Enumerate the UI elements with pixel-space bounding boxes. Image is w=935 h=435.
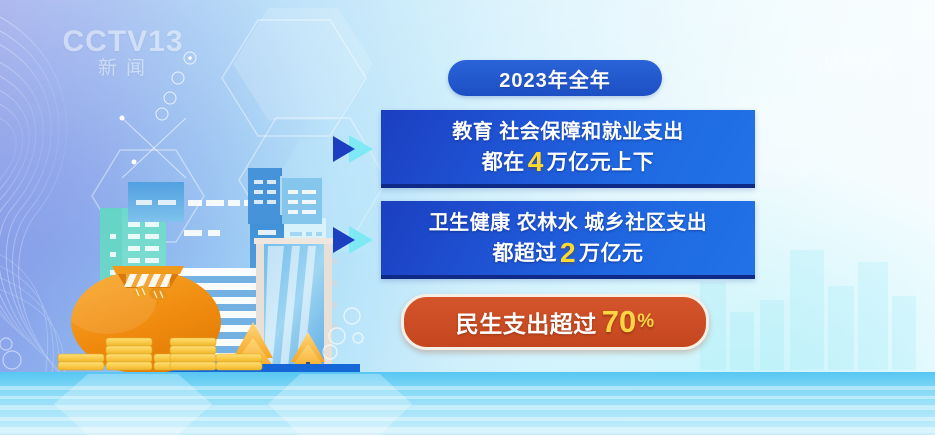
wave-lines: [0, 12, 82, 396]
stat-line-1: 教育 社会保障和就业支出: [452, 117, 684, 147]
stat-suffix: 万亿元上下: [547, 151, 655, 174]
triangle-right-icon: [333, 132, 375, 166]
stat-row: 卫生健康 农林水 城乡社区支出 都超过2万亿元: [355, 201, 755, 279]
stat-row: 教育 社会保障和就业支出 都在4万亿元上下: [355, 110, 755, 188]
stat-line-2: 都超过2万亿元: [492, 238, 643, 269]
stat-prefix: 都在: [482, 151, 525, 174]
circle-dots-decor: [156, 52, 196, 120]
summary-unit: %: [636, 311, 654, 333]
stat-box: 教育 社会保障和就业支出 都在4万亿元上下: [381, 110, 755, 188]
content-panel: 2023年全年 教育 社会保障和就业支出 都在4万亿元上下 卫生健康 农林水 城…: [355, 60, 755, 350]
stat-line-2: 都在4万亿元上下: [482, 147, 655, 178]
summary-text: 民生支出超过: [456, 305, 597, 339]
stat-highlight-number: 4: [525, 146, 547, 177]
summary-number: 70: [597, 304, 636, 340]
year-badge-label: 2023年全年: [499, 64, 611, 93]
stat-prefix: 都超过: [492, 242, 557, 265]
year-badge: 2023年全年: [448, 60, 662, 96]
stat-box: 卫生健康 农林水 城乡社区支出 都超过2万亿元: [381, 201, 755, 279]
stat-suffix: 万亿元: [579, 242, 644, 265]
stat-highlight-number: 2: [557, 237, 579, 268]
bag-tie-stripes: [124, 274, 172, 287]
summary-badge: 民生支出超过70%: [401, 294, 709, 350]
stat-line-1: 卫生健康 农林水 城乡社区支出: [429, 208, 708, 238]
triangle-right-icon: [333, 223, 375, 257]
infographic-stage: CCTV13 新闻 央视新闻 2023年全年 教育 社会保障和就业支出 都在4万…: [0, 0, 935, 435]
cross-lines: [120, 116, 187, 179]
